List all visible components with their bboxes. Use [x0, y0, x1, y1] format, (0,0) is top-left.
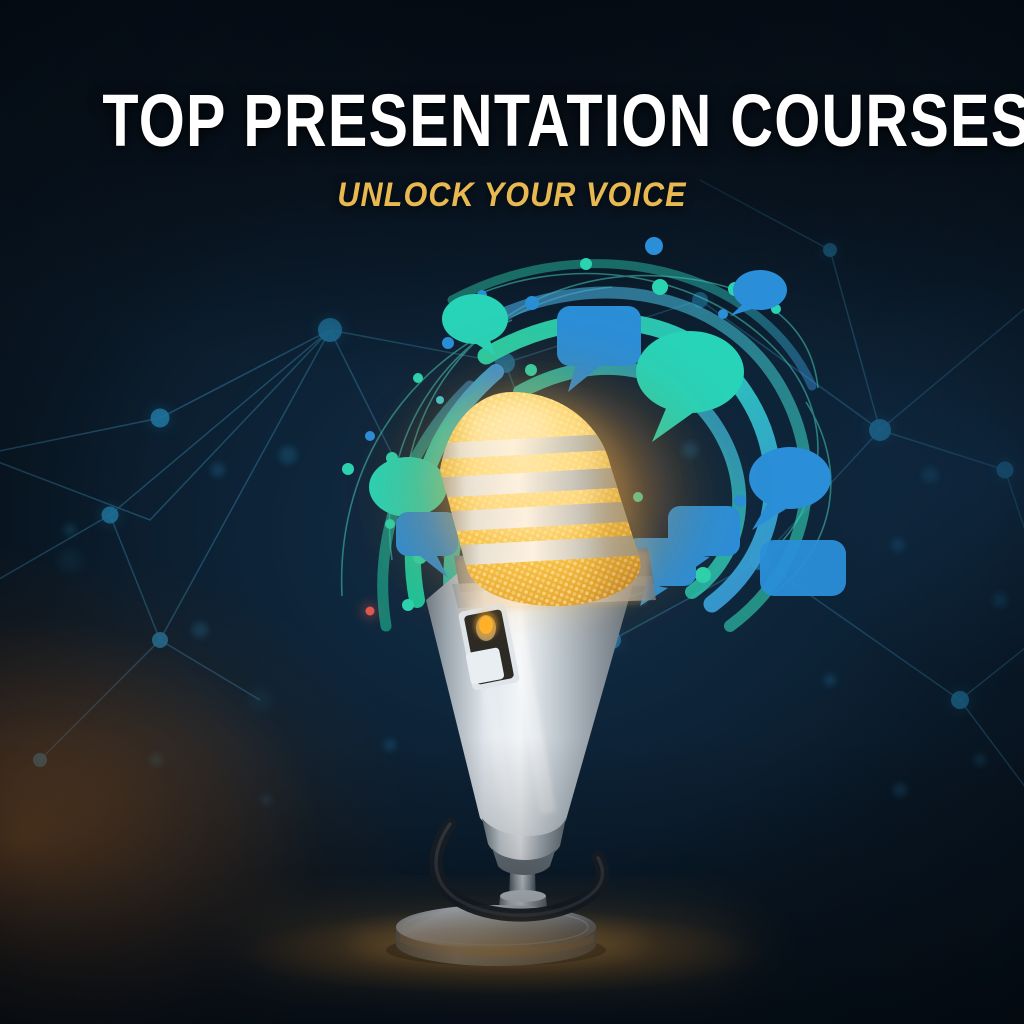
poster-canvas: TOP PRESENTATION COURSES UNLOCK YOUR VOI…: [0, 0, 1024, 1024]
page-subtitle: UNLOCK YOUR VOICE: [51, 176, 973, 215]
page-title: TOP PRESENTATION COURSES: [102, 84, 921, 158]
